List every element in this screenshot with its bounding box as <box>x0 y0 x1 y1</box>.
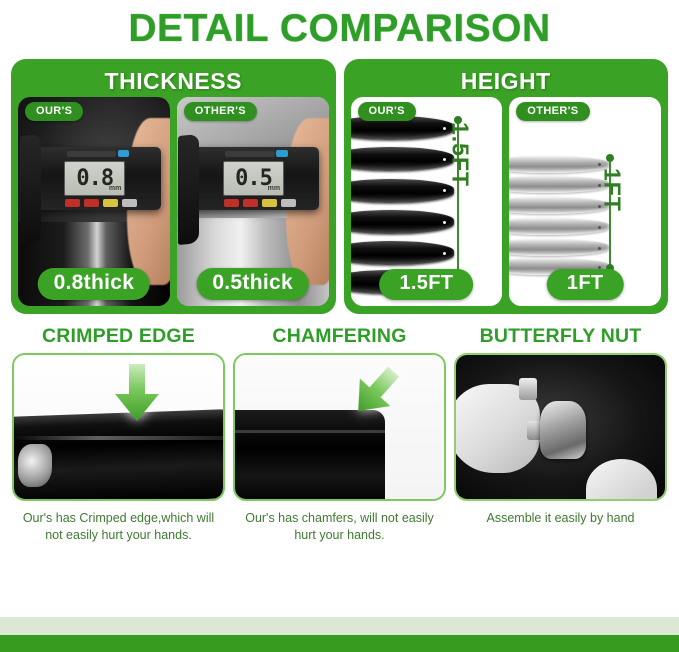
feature-title-butterfly-nut: BUTTERFLY NUT <box>480 323 642 349</box>
feature-caption-chamfering: Our's has chamfers, will not easily hurt… <box>233 510 446 544</box>
caliper-zero-button <box>103 199 118 207</box>
ring <box>509 176 609 193</box>
infographic-page: DETAIL COMPARISON THICKNESS 0.8 <box>0 0 679 652</box>
caliper-body: 0.5 mm <box>189 147 320 210</box>
caliper-on-button <box>84 199 99 207</box>
footer-band <box>0 617 679 635</box>
caliper-brand-strip <box>67 151 117 157</box>
ring-rivet-dot <box>598 163 601 166</box>
feature-image-crimped-edge <box>12 353 225 501</box>
tube-fitting <box>18 444 51 487</box>
butterfly-nut <box>540 401 586 459</box>
caliper-lcd: 0.5 mm <box>223 161 284 196</box>
feature-crimped-edge: CRIMPED EDGE <box>12 323 225 544</box>
caliper-zero-button <box>262 199 277 207</box>
caliper-unit-button <box>281 199 296 207</box>
value-pill-thickness-ours: 0.8thick <box>38 268 151 300</box>
ring <box>351 210 454 234</box>
caliper-reading: 0.8 <box>76 166 113 191</box>
feature-butterfly-nut: BUTTERFLY NUT Assemble it easily by hand <box>454 323 667 544</box>
caliper-reading: 0.5 <box>235 166 272 191</box>
butterfly-nut-photo <box>456 355 665 499</box>
panel-thickness-heading: THICKNESS <box>18 65 329 97</box>
ring-rivet-dot <box>443 127 446 130</box>
height-measure-label: 1.5FT <box>446 122 473 187</box>
page-title: DETAIL COMPARISON <box>0 0 679 52</box>
feature-image-butterfly-nut <box>454 353 667 501</box>
ring <box>509 156 609 173</box>
feature-title-chamfering: CHAMFERING <box>272 323 406 349</box>
arrow-down-glyph <box>114 364 160 422</box>
caliper-off-button <box>65 199 80 207</box>
panel-thickness-body: 0.8 mm OUR'S 0 <box>18 97 329 306</box>
chamfering-photo <box>235 355 444 499</box>
ring <box>351 241 454 265</box>
height-measure-label: 1FT <box>599 168 626 212</box>
caliper-unit-button <box>122 199 137 207</box>
ring <box>351 179 454 203</box>
feature-caption-butterfly-nut: Assemble it easily by hand <box>483 510 639 527</box>
feature-title-crimped-edge: CRIMPED EDGE <box>42 323 195 349</box>
caliper-button-row <box>65 199 137 207</box>
panel-height-heading: HEIGHT <box>351 65 662 97</box>
crimp-highlight <box>14 436 223 440</box>
ring-rivet-dot <box>443 221 446 224</box>
thickness-ours-cell: 0.8 mm OUR'S 0 <box>18 97 170 306</box>
feature-row: CRIMPED EDGE <box>0 313 679 544</box>
badge-ours: OUR'S <box>358 102 416 121</box>
caliper-body: 0.8 mm <box>30 147 161 210</box>
thickness-others-cell: 0.5 mm OTHER'S <box>177 97 329 306</box>
badge-ours: OUR'S <box>25 102 83 121</box>
feature-image-chamfering <box>233 353 446 501</box>
caliper-jaw <box>178 133 199 244</box>
height-others-cell: 1FT OTHER'S 1FT <box>509 97 661 306</box>
ring-rivet-dot <box>598 226 601 229</box>
footer-bar <box>0 635 679 652</box>
ring-rivet-dot <box>443 189 446 192</box>
caliper-brand-strip <box>225 151 275 157</box>
caliper-blue-button <box>276 150 288 157</box>
caliper-on-button <box>243 199 258 207</box>
chamfer-highlight <box>235 430 385 433</box>
value-pill-thickness-others: 0.5thick <box>196 268 309 300</box>
comparison-row: THICKNESS 0.8 mm <box>0 52 679 313</box>
ring <box>351 147 454 171</box>
caliper-unit: mm <box>109 185 121 192</box>
panel-height-body: 1.5FT OUR'S 1.5FT <box>351 97 662 306</box>
ring-rivet-dot <box>443 252 446 255</box>
ring <box>509 197 609 214</box>
caliper-button-row <box>224 199 296 207</box>
height-ours-cell: 1.5FT OUR'S 1.5FT <box>351 97 503 306</box>
value-pill-height-others: 1FT <box>547 269 623 300</box>
caliper-blue-button <box>118 150 130 157</box>
panel-thickness: THICKNESS 0.8 mm <box>12 60 335 313</box>
value-pill-height-ours: 1.5FT <box>380 269 474 300</box>
caliper-lcd: 0.8 mm <box>64 161 125 196</box>
ring-rivet-dot <box>598 247 601 250</box>
gloved-hand-secondary <box>586 459 657 501</box>
caliper-unit: mm <box>268 185 280 192</box>
badge-others: OTHER'S <box>516 102 589 121</box>
arrow-down-icon <box>114 364 160 427</box>
ring-rivet-dot <box>443 158 446 161</box>
caliper-off-button <box>224 199 239 207</box>
screw-cap <box>519 378 538 400</box>
ring <box>509 239 609 256</box>
feature-caption-crimped-edge: Our's has Crimped edge,which will not ea… <box>12 510 225 544</box>
badge-others: OTHER'S <box>184 102 257 121</box>
panel-height: HEIGHT 1.5FT <box>345 60 668 313</box>
feature-chamfering: CHAMFERING <box>233 323 446 544</box>
ring <box>509 218 609 235</box>
caliper-jaw <box>20 133 41 244</box>
